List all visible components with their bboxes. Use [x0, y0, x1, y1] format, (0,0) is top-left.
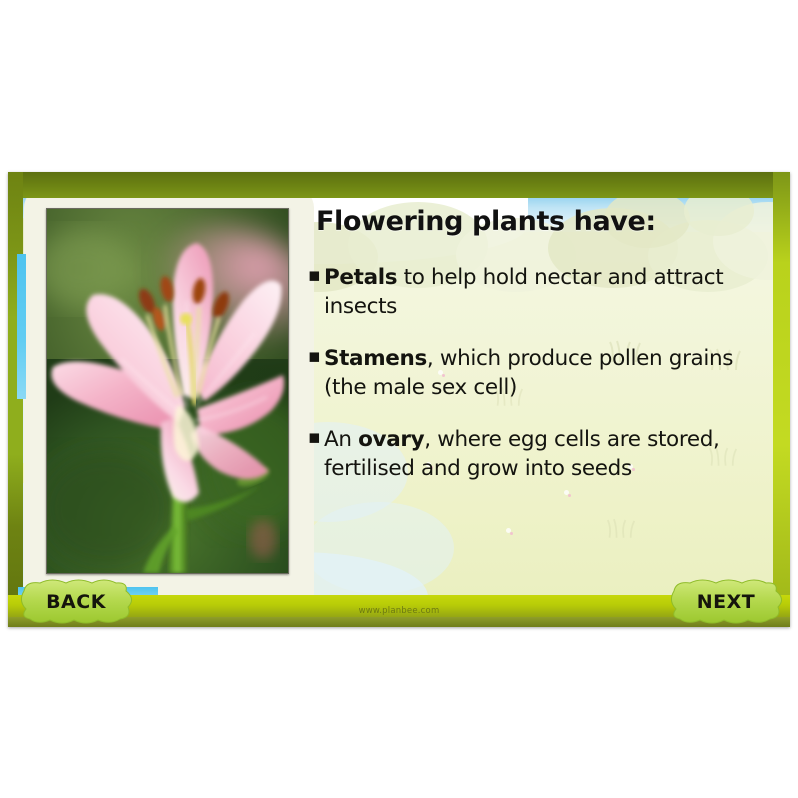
list-item: ▪ Stamens, which produce pollen grains (… [308, 344, 773, 402]
list-item: ▪ Petals to help hold nectar and attract… [308, 263, 773, 321]
bullet-text: Petals to help hold nectar and attract i… [324, 263, 773, 321]
list-item: ▪ An ovary, where egg cells are stored, … [308, 425, 773, 483]
slide-text-column: Flowering plants have: ▪ Petals to help … [308, 206, 773, 506]
bullet-marker-icon: ▪ [308, 263, 324, 321]
bullet-marker-icon: ▪ [308, 425, 324, 483]
bullet-pre: An [324, 427, 358, 452]
screenshot-canvas: Flowering plants have: ▪ Petals to help … [0, 0, 798, 798]
page-title: Flowering plants have: [316, 206, 773, 237]
next-button-label: NEXT [666, 579, 786, 625]
water-strip-decoration [17, 254, 26, 399]
back-button-label: BACK [16, 579, 136, 625]
bullet-lead-term: ovary [358, 427, 424, 452]
next-button[interactable]: NEXT [666, 579, 786, 625]
pink-lily-flower-photo [46, 208, 289, 574]
bullet-text: Stamens, which produce pollen grains (th… [324, 344, 773, 402]
grass-tuft-icon [606, 518, 636, 538]
back-button[interactable]: BACK [16, 579, 136, 625]
slide-frame-left [8, 172, 23, 627]
bullet-lead-term: Petals [324, 265, 397, 290]
slide-frame-right [773, 172, 790, 627]
bullet-lead-term: Stamens [324, 346, 427, 371]
bullet-text: An ovary, where egg cells are stored, fe… [324, 425, 773, 483]
slide-frame-top [8, 172, 790, 198]
bullet-marker-icon: ▪ [308, 344, 324, 402]
presentation-slide: Flowering plants have: ▪ Petals to help … [8, 172, 790, 627]
